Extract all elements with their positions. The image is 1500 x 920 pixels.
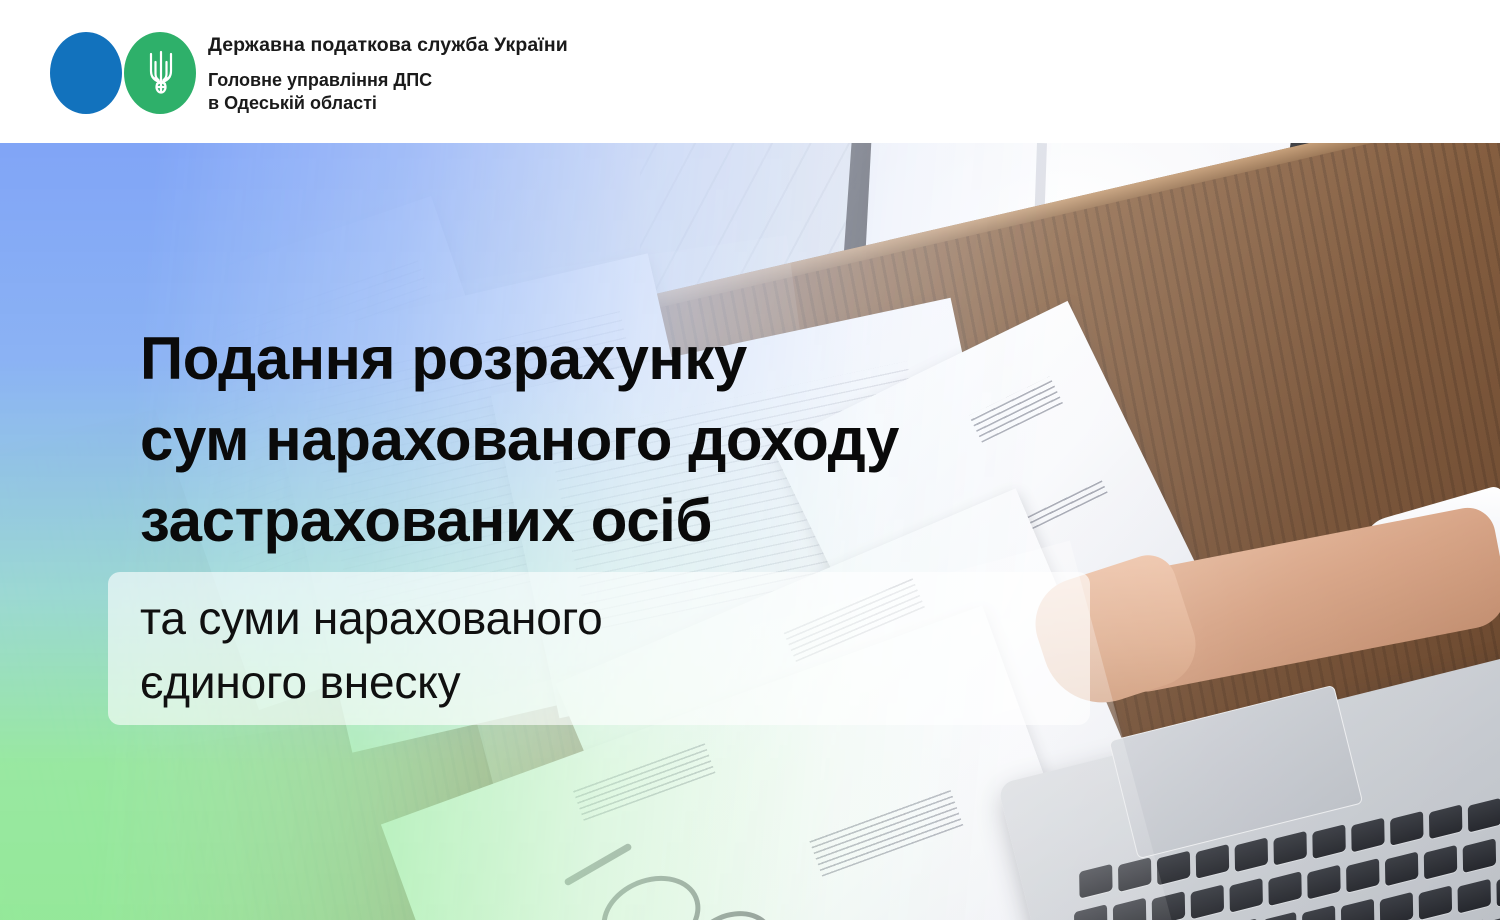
org-department: Головне управління ДПС в Одеській област… — [208, 69, 908, 115]
banner-canvas: Подання розрахунку сум нарахованого дохо… — [0, 0, 1500, 920]
org-name: Державна податкова служба України — [208, 32, 908, 58]
ukraine-trident-icon — [146, 48, 176, 98]
dps-logo[interactable] — [50, 32, 196, 114]
page-header: Державна податкова служба України Головн… — [0, 0, 1500, 143]
org-department-line-2: в Одеській області — [208, 92, 908, 115]
logo-blue-circle — [50, 32, 122, 114]
org-identity: Державна податкова служба України Головн… — [208, 32, 908, 115]
banner-title-line-1: Подання розрахунку — [140, 318, 1140, 399]
banner-title-line-3: застрахованих осіб — [140, 480, 1140, 561]
banner-subtitle-line-2: єдиного внеску — [140, 650, 1080, 714]
banner-title-line-2: сум нарахованого доходу — [140, 399, 1140, 480]
banner-subtitle: та суми нарахованого єдиного внеску — [140, 586, 1080, 714]
org-department-line-1: Головне управління ДПС — [208, 69, 908, 92]
banner-subtitle-line-1: та суми нарахованого — [140, 586, 1080, 650]
banner-title: Подання розрахунку сум нарахованого дохо… — [140, 318, 1140, 561]
